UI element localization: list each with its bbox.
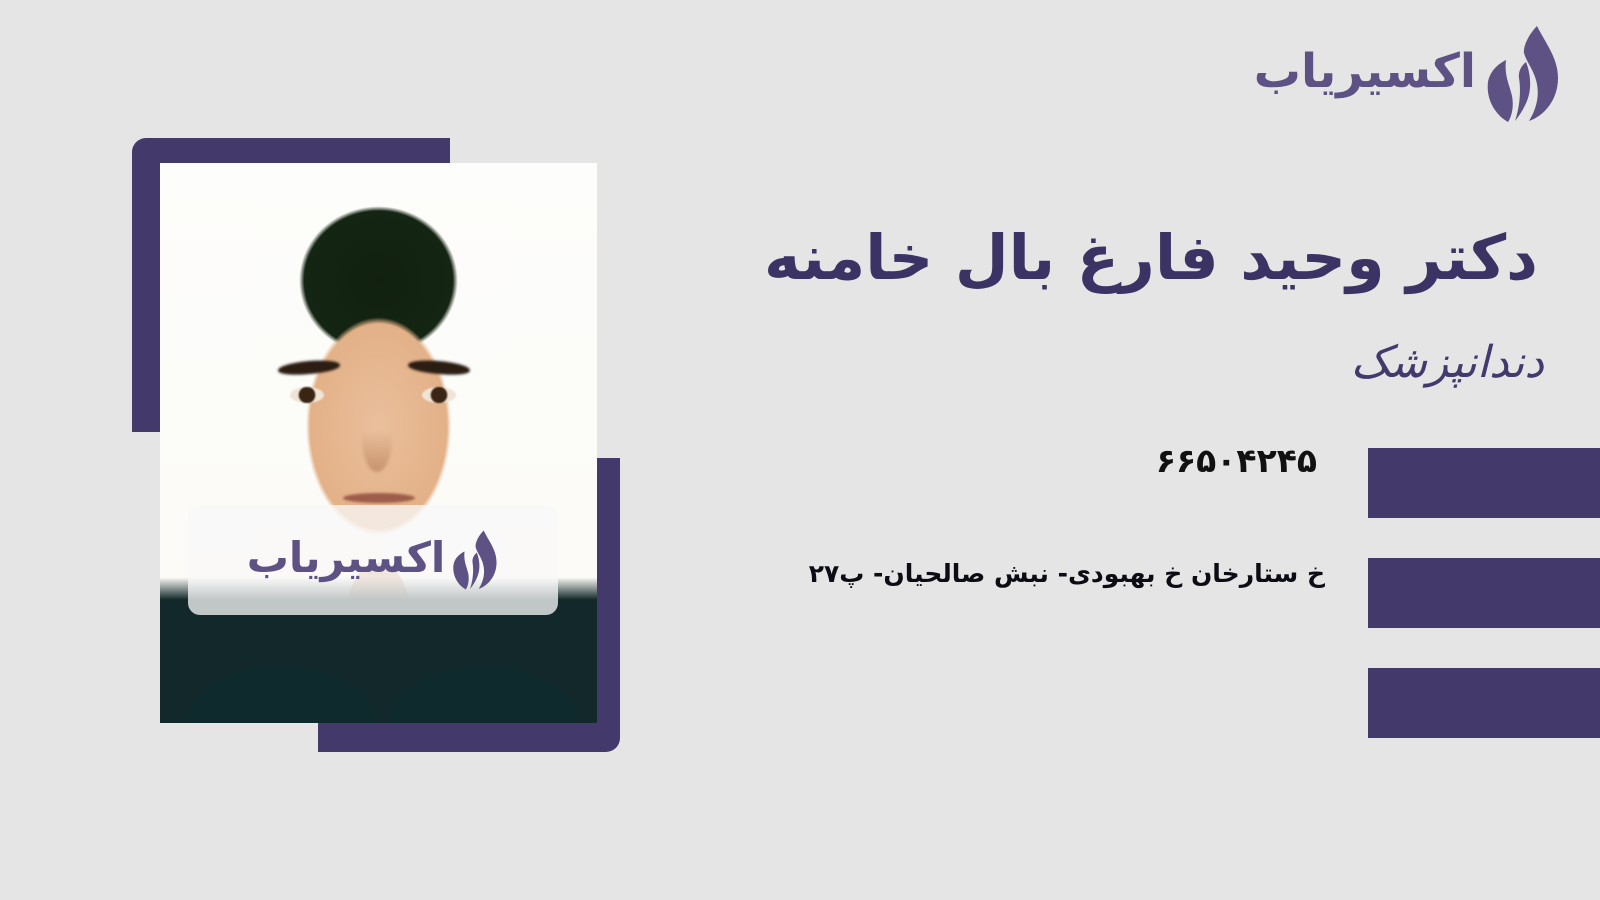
eye-left-shape: [290, 387, 324, 403]
doctor-portrait: اکسیریاب: [160, 163, 597, 723]
watermark-flame-droplet-icon: [451, 528, 499, 592]
mouth-shape: [343, 493, 415, 503]
photo-watermark: اکسیریاب: [188, 505, 558, 615]
decor-bar-3: [1368, 668, 1600, 738]
eyebrow-right-shape: [408, 358, 471, 376]
decor-bar-1: [1368, 448, 1600, 518]
flame-droplet-icon: [1484, 24, 1562, 124]
doctor-specialty: دندانپزشک: [1351, 338, 1544, 389]
nose-shape: [362, 406, 392, 472]
watermark-brand-name: اکسیریاب: [247, 537, 446, 583]
photo-block: اکسیریاب: [132, 138, 622, 753]
doctor-phone[interactable]: ۶۶۵۰۴۲۴۵: [1156, 444, 1317, 477]
doctor-profile-card: اکسیریاب: [0, 0, 1600, 900]
portrait-image: [160, 163, 597, 723]
brand-name: اکسیریاب: [1254, 48, 1476, 101]
doctor-address: خ ستارخان خ بهبودی- نبش صالحیان- پ۲۷: [809, 559, 1325, 589]
eyebrow-left-shape: [278, 358, 341, 376]
doctor-name: دکتر وحید فارغ بال خامنه: [764, 222, 1538, 293]
decor-bar-2: [1368, 558, 1600, 628]
brand-logo[interactable]: اکسیریاب: [1254, 24, 1562, 124]
eye-right-shape: [422, 387, 456, 403]
